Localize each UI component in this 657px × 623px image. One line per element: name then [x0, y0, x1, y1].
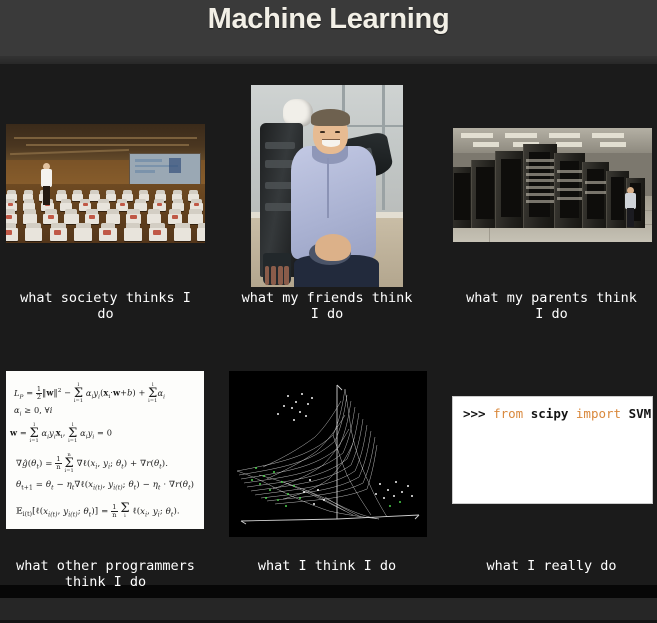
svm-equations-sheet: LP = 12‖w‖2 − lΣi=1 αiyi(xi·w+b) + lΣi=1… — [6, 371, 204, 529]
standing-person — [40, 163, 54, 205]
keyword-from: from — [493, 406, 523, 421]
python-prompt: >>> — [463, 406, 493, 421]
caption-other-programmers: what other programmers think I do — [0, 558, 211, 590]
caption-parents: what my parents think I do — [446, 290, 657, 322]
mans-face — [313, 113, 348, 153]
python-console-import: >>> from scipy import SVM — [452, 396, 653, 504]
hyperplane-wireframe — [229, 371, 427, 537]
man-with-robot-arm-photo — [251, 85, 403, 287]
robot-gripper — [263, 253, 290, 285]
clasped-hands — [315, 234, 351, 260]
bottom-gray-band — [0, 598, 657, 620]
module-name: scipy — [523, 406, 576, 421]
imported-symbol: SVM — [621, 406, 651, 421]
machine-rows — [6, 168, 205, 243]
python-import-statement: >>> from scipy import SVM — [463, 406, 651, 421]
meme-image: Machine Learning — [0, 0, 657, 623]
page-title: Machine Learning — [0, 3, 657, 36]
caption-society: what society thinks I do — [0, 290, 211, 322]
svm-hyperplane-3d-plot — [229, 371, 427, 537]
technician — [625, 187, 636, 227]
hall-of-humanoid-robots-photo — [6, 124, 205, 243]
keyword-import: import — [576, 406, 621, 421]
caption-i-think: what I think I do — [223, 558, 431, 574]
caption-i-really-do: what I really do — [446, 558, 657, 574]
caption-friends: what my friends think I do — [223, 290, 431, 322]
supercomputer-server-room-photo — [453, 128, 652, 242]
